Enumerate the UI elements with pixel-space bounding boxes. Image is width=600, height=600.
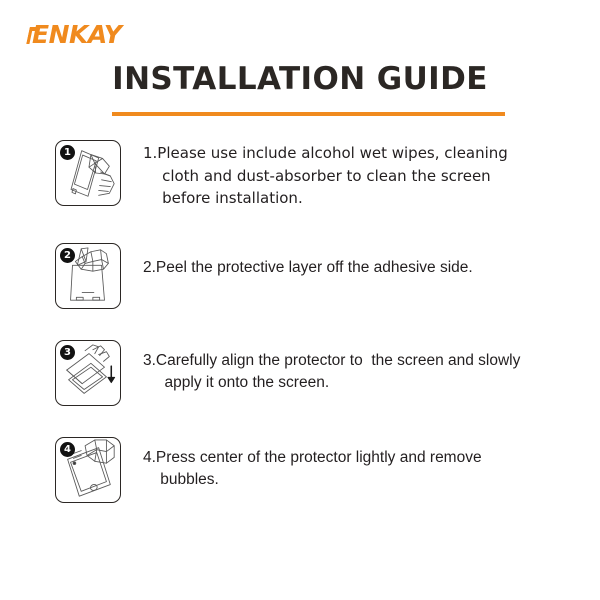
step-4-text: 4.Press center of the protector lightly …: [121, 437, 600, 491]
step-3-text: 3.Carefully align the protector to the s…: [121, 340, 600, 394]
page-title: INSTALLATION GUIDE: [0, 62, 600, 96]
step-4-illustration: 4: [55, 437, 121, 503]
step-2-illustration: 2: [55, 243, 121, 309]
step-1-text: 1.Please use include alcohol wet wipes, …: [121, 140, 600, 210]
step-3-badge: 3: [60, 345, 75, 360]
step-1-badge: 1: [60, 145, 75, 160]
step-1-illustration: 1: [55, 140, 121, 206]
step-item-4: 4 4.Press center of the protector lightl…: [0, 437, 600, 503]
installation-guide-page: ENKAY INSTALLATION GUIDE: [0, 0, 600, 600]
step-item-3: 3 3.Carefully align the protector to the…: [0, 340, 600, 406]
step-item-2: 2 2.Peel the protective layer off the ad…: [0, 243, 600, 309]
step-3-illustration: 3: [55, 340, 121, 406]
brand-logo: ENKAY: [28, 21, 121, 47]
step-2-text: 2.Peel the protective layer off the adhe…: [121, 243, 600, 279]
step-2-badge: 2: [60, 248, 75, 263]
title-divider: [112, 112, 505, 116]
step-4-badge: 4: [60, 442, 75, 457]
brand-logo-text: ENKAY: [32, 22, 121, 47]
step-item-1: 1 1.Please use include alcohol wet wipes…: [0, 140, 600, 210]
steps-list: 1 1.Please use include alcohol wet wipes…: [0, 140, 600, 503]
